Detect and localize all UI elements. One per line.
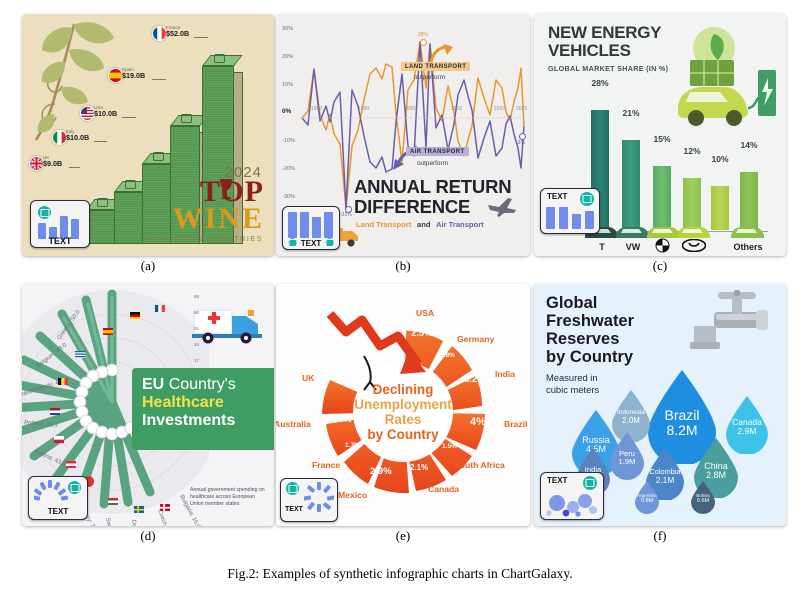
flag-sweden-icon-d [134, 500, 144, 509]
bar-bmw [653, 166, 671, 230]
ytick-m10: -10% [282, 138, 295, 144]
bar-italy [86, 210, 116, 244]
badge-text-f: TEXT [547, 476, 567, 485]
flag-austria-icon-d [66, 455, 76, 464]
badge-text-d: TEXT [29, 507, 87, 516]
panel-c-title-1: NEW ENERGY [548, 24, 661, 42]
panel-grid: UK $9.0B Italy $10.0B USA $10.0B [0, 0, 800, 556]
bar-usa [114, 192, 144, 244]
label-italy: Italy $10.0B [66, 129, 89, 142]
country-value-france: 1.7% [345, 442, 360, 449]
flag-germany-icon-d [130, 306, 140, 315]
watermark-badge-b: TEXT [282, 206, 340, 250]
faucet-illustration [686, 290, 778, 362]
declining-arrow [330, 314, 418, 364]
panel-d-healthcare-chart: Greece: 50.0 Belgium: 48.0 Netherlands: … [22, 284, 274, 526]
scale-tick-17: 17 [194, 358, 199, 363]
panel-c-cell: NEW ENERGY VEHICLES GLOBAL MARKET SHARE … [534, 14, 786, 256]
image-chip-icon-e [286, 482, 299, 495]
panel-d-note: Annual government spending on healthcare… [190, 487, 266, 508]
country-value-germany: 1.8% [440, 352, 455, 359]
subcaption-f: (f) [534, 528, 786, 544]
bar-others-1 [711, 186, 729, 230]
bar-value-vw: 21% [615, 108, 647, 118]
brand-logo-volkswagen: VW [617, 242, 649, 252]
hyundai-logo-icon [682, 239, 706, 252]
tag-land-sub: outperform [414, 74, 445, 81]
brand-logo-others: Others [724, 242, 772, 252]
panel-d-cell: Greece: 50.0 Belgium: 48.0 Netherlands: … [22, 284, 274, 526]
country-value-brazil: 4% [470, 416, 486, 428]
country-label-usa: USA [416, 308, 434, 318]
bmw-logo-icon [655, 238, 670, 253]
subcaption-b: (b) [276, 258, 530, 274]
bubble-chip-icon [545, 493, 599, 517]
flag-france-icon-d [155, 299, 165, 308]
panel-c-subtitle: GLOBAL MARKET SHARE (IN %) [548, 64, 668, 73]
legend-land: Land Transport [356, 220, 411, 229]
country-label-germany: Germany [457, 334, 494, 344]
panel-b-headline-1: ANNUAL RETURN [354, 176, 511, 198]
image-chip-icon-c [580, 192, 594, 206]
trough-label: -31% [340, 212, 352, 218]
ytick-0: 0% [282, 108, 291, 115]
flag-hungary-icon-d [108, 492, 118, 501]
country-value-india: 3.2% [464, 374, 486, 385]
label-france: France $52.0B [166, 25, 189, 38]
ytick-20: 20% [282, 54, 293, 60]
label-spain: Spain $19.0B [122, 67, 145, 80]
car-hyundai-icon [676, 222, 712, 240]
watermark-badge-c: TEXT [540, 188, 600, 234]
badge-text-e: TEXT [285, 506, 303, 513]
watermark-badge-f: TEXT [540, 472, 604, 520]
figure-page: UK $9.0B Italy $10.0B USA $10.0B [0, 0, 800, 594]
scale-tick-34: 34 [194, 342, 199, 347]
flag-uk-icon [29, 156, 44, 171]
panel-b-headline-2: DIFFERENCE [354, 196, 470, 218]
brand-logo-tesla: T [586, 242, 618, 252]
radial-label-sweden: Sweden: 35.0 [104, 517, 118, 526]
panel-f-cell: Global Freshwater Reserves by Country Me… [534, 284, 786, 526]
droplet-label-peru: Peru 1.9M [608, 450, 646, 466]
subcaption-d: (d) [22, 528, 274, 544]
panel-f-freshwater-chart: Global Freshwater Reserves by Country Me… [534, 284, 786, 526]
end-marker [519, 133, 526, 140]
ytick-m20: -20% [282, 166, 295, 172]
droplet-label-canada: Canada 2.9M [724, 418, 770, 436]
country-label-canada: Canada [428, 484, 459, 494]
subcaption-a: (a) [22, 258, 274, 274]
panel-f-subtitle: Measured in cubic meters [546, 372, 599, 396]
badge-text-c: TEXT [547, 192, 567, 201]
ytick-m30: -30% [282, 194, 295, 200]
image-chip-icon [38, 206, 51, 219]
country-value-uk: 2% [336, 376, 348, 385]
panel-d-title-box: EU Country's Healthcare Investments [132, 368, 274, 450]
image-chip-icon-f [583, 476, 597, 490]
country-label-australia: Australia [276, 419, 311, 429]
flag-france-icon [152, 26, 167, 41]
airplane-icon [486, 196, 518, 218]
watermark-badge-a: TEXT [30, 200, 90, 248]
country-label-uk: UK [302, 373, 314, 383]
radial-chip-icon-e [304, 482, 334, 512]
bar-value-others-2: 14% [733, 140, 765, 150]
panel-d-title-line-1: EU Country's [142, 376, 236, 394]
car-others-icon [730, 222, 766, 240]
flag-belgium-icon-d [58, 372, 68, 381]
scale-tick-68: 68 [194, 294, 199, 299]
flag-spain-icon-d [103, 322, 113, 331]
flag-greece-icon-d [75, 345, 85, 354]
droplet-label-argentina: Argentina 0.8M [634, 494, 660, 505]
country-value-usa: 2.5% [411, 328, 433, 339]
tag-air-sub: outperform [417, 160, 448, 167]
panel-a-wine-chart: UK $9.0B Italy $10.0B USA $10.0B [22, 14, 274, 256]
bar-value-tesla: 28% [584, 78, 616, 88]
droplet-bolivia: Bolivia 0.6M [690, 480, 716, 514]
panel-d-title-line-2: Healthcare [142, 394, 224, 412]
panel-e-center-text: Declining Unemployment Rates by Country [348, 382, 458, 442]
bar-value-others-1: 10% [704, 154, 736, 164]
image-chip-icon-d [68, 481, 81, 494]
droplet-argentina: Argentina 0.8M [634, 480, 660, 514]
xtick-2020: 2020 [494, 106, 505, 112]
badge-text-a: TEXT [31, 236, 89, 246]
country-label-india: India [495, 369, 515, 379]
tag-land-transport: LAND TRANSPORT [401, 62, 470, 71]
radial-label-czech: Czech Republic: 25.0 [156, 509, 181, 526]
flag-spain-icon [108, 68, 123, 83]
country-label-france: France [312, 460, 340, 470]
panel-a-cell: UK $9.0B Italy $10.0B USA $10.0B [22, 14, 274, 256]
peak-label: 28% [418, 32, 428, 38]
end-label: -3% [516, 140, 525, 146]
bar-usa2 [142, 164, 172, 244]
country-value-canada: 2.1% [410, 463, 428, 472]
watermark-badge-e: TEXT [280, 478, 338, 522]
country-value-australia: 2.3% [331, 414, 352, 424]
country-value-south-africa: 1.5% [442, 443, 457, 450]
ev-illustration [670, 26, 780, 136]
xtick-2010: 2010 [451, 106, 462, 112]
country-label-mexico: Mexico [338, 490, 367, 500]
ytick-30: 30% [282, 26, 293, 32]
flag-denmark-icon-d [160, 498, 170, 507]
radial-chip-icon [34, 480, 68, 504]
watermark-badge-d: TEXT [28, 476, 88, 520]
panel-a-title-wine: WINE [173, 204, 264, 234]
figure-caption: Fig.2: Examples of synthetic infographic… [0, 566, 800, 582]
radial-label-denmark: Denmark: 28.0 [130, 520, 140, 526]
tag-air-transport: AIR TRANSPORT [406, 147, 469, 156]
country-label-brazil: Brazil [504, 419, 527, 429]
ambulance-illustration [192, 300, 264, 344]
xtick-2025: 2025 [516, 106, 527, 112]
xtick-1980: 1980 [311, 106, 322, 112]
xtick-2000: 2000 [404, 106, 415, 112]
scale-tick-51: 51 [194, 326, 199, 331]
flag-italy-icon [52, 130, 67, 145]
flag-poland-icon-d [54, 430, 64, 439]
country-label-south-africa: South Africa [454, 460, 505, 470]
panel-b-cell: 30% 20% 10% 0% -10% -20% -30% 28% -31% -… [276, 14, 530, 256]
droplet-label-brazil: Brazil 8.2M [646, 408, 718, 437]
flag-netherlands-icon-d [50, 402, 60, 411]
droplet-label-bolivia: Bolivia 0.6M [690, 494, 716, 505]
flag-usa-icon [80, 106, 95, 121]
droplet-label-china: China 2.8M [692, 462, 740, 481]
badge-text-b: TEXT [283, 239, 339, 248]
bar-value-bmw: 15% [646, 134, 678, 144]
ytick-10: 10% [282, 82, 293, 88]
wine-glass-icon [217, 178, 235, 200]
panel-b-return-chart: 30% 20% 10% 0% -10% -20% -30% 28% -31% -… [276, 14, 530, 256]
panel-a-subtitle: EXPORTING COUNTRIES [148, 236, 263, 243]
panel-d-title-line-3: Investments [142, 412, 235, 430]
panel-c-nev-chart: NEW ENERGY VEHICLES GLOBAL MARKET SHARE … [534, 14, 786, 256]
droplet-peru: Peru 1.9M [608, 430, 646, 480]
panel-e-cell: Declining Unemployment Rates by Country … [276, 284, 530, 526]
label-usa: USA $10.0B [94, 105, 117, 118]
legend-and: and [417, 220, 431, 229]
scale-tick-60: 60 [194, 310, 199, 315]
xtick-1990: 1990 [358, 106, 369, 112]
label-uk: UK $9.0B [43, 155, 62, 168]
panel-f-title: Global Freshwater Reserves by Country [546, 294, 634, 366]
droplet-label-indonesia: Indonesia 2.0M [610, 410, 652, 425]
country-value-mexico: 2.9% [370, 466, 392, 477]
subcaption-c: (c) [534, 258, 786, 274]
bar-vw [622, 140, 640, 230]
panel-e-unemployment-chart: Declining Unemployment Rates by Country … [276, 284, 530, 526]
legend-air: Air Transport [436, 220, 484, 229]
subcaption-e: (e) [276, 528, 530, 544]
panel-c-title-2: VEHICLES [548, 42, 631, 60]
